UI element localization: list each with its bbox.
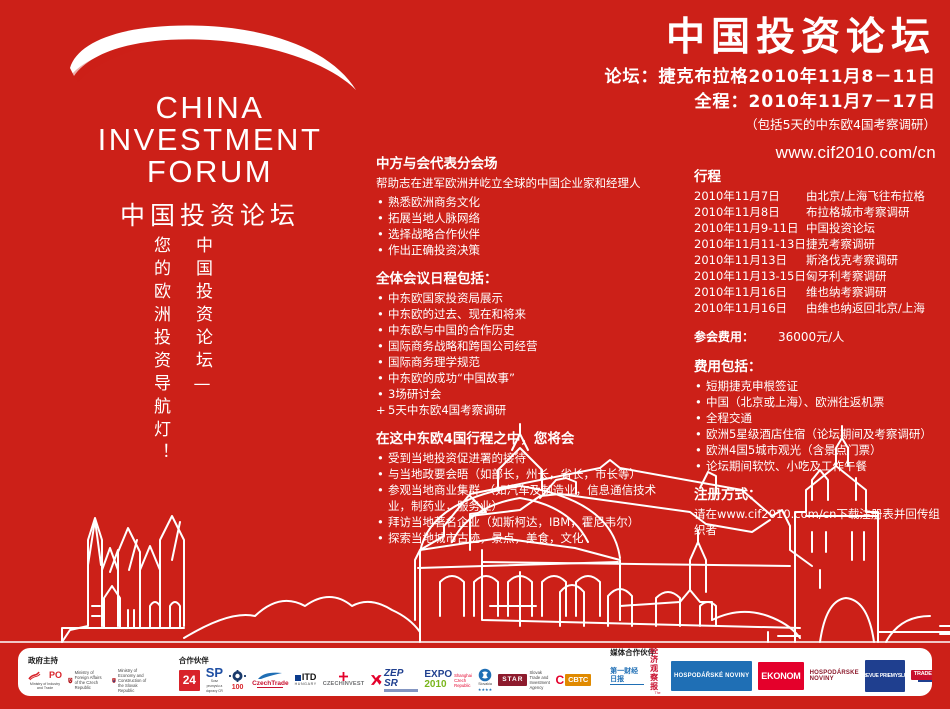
revue-priemyslu-logo[interactable]: REVUE PRIEMYSLU [865,660,905,692]
sp-logo[interactable]: SP Svaz prumyslu a dopravy CR [206,668,223,692]
cbtc-c-icon: C [555,674,564,686]
list-item: 参观当地商业集群 （如汽车及制造业，信息通信技术业，制药业，服务业） [376,482,676,514]
itinerary-activity: 斯洛伐克考察调研 [806,252,946,268]
itd-sublabel: HUNGARY [295,682,317,687]
table-row: 2010年11月13日 斯洛伐克考察调研 [694,252,946,268]
economic-observer-logo[interactable]: 经济观察报 The Economic Observer [650,664,665,688]
logo-chinese-name: 中国投资论坛 [60,196,360,232]
itinerary-heading: 行程 [694,168,946,187]
spacer [694,474,946,486]
24-logo[interactable]: 24 [179,670,200,691]
czechtrade-wordmark: CzechTrade [252,680,289,687]
czechinvest-wordmark: CZECHINVEST [323,681,365,688]
trade-news-logo[interactable]: TRADE NEWS [911,664,932,688]
vertical-slogan-right: 中国投资论坛— [192,236,212,486]
program-note: （包括5天的中东欧4国考察调研） [506,115,936,135]
section3-heading: 在这中东欧4国行程之中，您将会 [376,430,676,449]
forum-dates: 论坛：捷克布拉格2010年11月8－11日 [506,65,936,90]
section1-heading: 中方与会代表分会场 [376,155,676,174]
vertical-slogan-left: 您的欧洲投资导航灯！ [150,236,170,486]
itinerary-date: 2010年11月8日 [694,204,806,220]
table-row: 2010年11月9-11日 中国投资论坛 [694,220,946,236]
list-item: 中国（北京或上海）、欧洲往返机票 [694,394,946,410]
expo-year: 2010 [424,680,452,690]
media-sponsor-group: 媒体合作伙伴 第一财经日报 经济观察报 The Economic Observe… [610,653,932,692]
spacer [376,418,676,430]
list-item: 中东欧与中国的合作历史 [376,322,676,338]
itd-wordmark: ITD [302,673,317,682]
logo-english-name: CHINA INVESTMENT FORUM [60,92,360,188]
middle-content-column: 中方与会代表分会场 帮助志在进军欧洲并屹立全球的中国企业家和经理人 熟悉欧洲商务… [376,155,676,546]
itinerary-activity: 匈牙利考察调研 [806,268,946,284]
itinerary-activity: 布拉格城市考察调研 [806,204,946,220]
list-item: 熟悉欧洲商务文化 [376,194,676,210]
list-item: 欧洲4国5城市观光（含景点门票） [694,442,946,458]
list-item: 拓展当地人脉网络 [376,210,676,226]
cbtc-wordmark: CBTC [565,674,591,686]
mpo-ministry-of-industry-and-trade-logo[interactable]: PO Ministry of Industry and Trade [28,668,62,692]
cbn-wordmark: 第一财经日报 [610,668,644,684]
cif-logo: CHINA INVESTMENT FORUM 中国投资论坛 [60,24,360,234]
table-row: 2010年11月11-13日 捷克考察调研 [694,236,946,252]
list-item: 短期捷克申根签证 [694,378,946,394]
zep-sr-logo[interactable]: ZEP SR [370,668,418,692]
zep-sr-wordmark: ZEP SR [384,669,418,689]
logo-line-3: FORUM [60,156,360,188]
partner-logo-list: 24 SP Svaz prumyslu a dopravy CR 100 [179,668,591,692]
vertical-slogan: 中国投资论坛— 您的欧洲投资导航灯！ [150,236,212,486]
top100-number: 100 [232,684,244,691]
slovak-coat-of-arms-icon [112,672,116,689]
expo-sublabel: Shanghai Czech Republic [454,673,472,688]
itinerary-date: 2010年11月11-13日 [694,236,806,252]
list-item: 与当地政要会晤（如部长，州长，省长，市长等） [376,466,676,482]
list-item: 国际商务战略和跨国公司经营 [376,338,676,354]
government-logo-list: PO Ministry of Industry and Trade Minist… [28,668,152,692]
list-item: 全程交通 [694,410,946,426]
ministry-of-economy-slovak-logo[interactable]: Ministry of Economy and Construction of … [112,668,152,692]
itinerary-table: 2010年11月7日 由北京/上海飞往布拉格 2010年11月8日 布拉格城市考… [694,188,946,316]
mfa-sublabel: Ministry of Foreign Affairs of the Czech… [75,670,107,690]
list-item: 国际商务理学规范 [376,354,676,370]
spacer [694,316,946,328]
cbtc-logo[interactable]: C CBTC [555,668,591,692]
ekonom-logo[interactable]: EKONOM [758,662,803,690]
itinerary-date: 2010年11月16日 [694,300,806,316]
slovakia-stars: ★★★★ [478,687,492,692]
zep-sr-underline [384,689,418,692]
header-block: 中国投资论坛 论坛：捷克布拉格2010年11月8－11日 全程：2010年11月… [506,14,936,167]
zep-mark-icon [370,674,382,686]
includes-list: 短期捷克申根签证 中国（北京或上海）、欧洲往返机票 全程交通 欧洲5星级酒店住宿… [694,378,946,474]
itd-square-icon [295,675,301,681]
table-row: 2010年11月8日 布拉格城市考察调研 [694,204,946,220]
star-logo[interactable]: STAR Slovak Trade and Investment Agency [498,668,549,692]
list-item: 受到当地投资促进署的接待 [376,450,676,466]
trade-news-wordmark: TRADE NEWS [911,670,932,680]
sp-logo-mark: SP [206,666,223,679]
list-item: 拜访当地著名企业（如斯柯达，IBM，霍尼韦尔） [376,514,676,530]
full-program-dates: 全程：2010年11月7－17日 [506,90,936,115]
slovakia-logo[interactable]: Slovakia ★★★★ [478,668,492,692]
czechinvest-cross-icon [339,672,348,681]
section2-heading: 全体会议日程包括： [376,270,676,289]
hospodarske-noviny-sk-logo[interactable]: HOSPODÁRSKE NOVINY [810,664,859,688]
fee-value: 36000元/人 [778,328,844,346]
cbn-underline [610,684,644,685]
list-item: 作出正确投资决策 [376,242,676,258]
table-row: 2010年11月16日 维也纳考察调研 [694,284,946,300]
partner-sponsor-label: 合作伙伴 [179,655,591,666]
itinerary-date: 2010年11月9-11日 [694,220,806,236]
itinerary-date: 2010年11月13-15日 [694,268,806,284]
mpo-sublabel: Ministry of Industry and Trade [28,682,62,690]
list-item: 选择战略合作伙伴 [376,226,676,242]
top100-logo[interactable]: 100 [229,668,246,692]
section2-bullet-list: 中东欧国家投资局展示 中东欧的过去、现在和将来 中东欧与中国的合作历史 国际商务… [376,290,676,418]
includes-heading: 费用包括： [694,358,946,377]
itinerary-activity: 中国投资论坛 [806,220,946,236]
itinerary-date: 2010年11月7日 [694,188,806,204]
poster-canvas: CHINA INVESTMENT FORUM 中国投资论坛 中国投资论坛— 您的… [0,0,950,709]
spacer [376,258,676,270]
itinerary-activity: 由北京/上海飞往布拉格 [806,188,946,204]
section3-bullet-list: 受到当地投资促进署的接待 与当地政要会晤（如部长，州长，省长，市长等） 参观当地… [376,450,676,546]
list-item: 探索当地城市古迹，景点，美食，文化 [376,530,676,546]
eo-sublabel: The Economic Observer [650,691,665,696]
table-row: 2010年11月16日 由维也纳返回北京/上海 [694,300,946,316]
itinerary-activity: 由维也纳返回北京/上海 [806,300,946,316]
list-item: 中东欧国家投资局展示 [376,290,676,306]
itinerary-date: 2010年11月13日 [694,252,806,268]
partner-sponsor-group: 合作伙伴 24 SP Svaz prumyslu a dopravy CR [179,653,591,692]
czechtrade-logo[interactable]: CzechTrade [252,668,289,692]
list-item: 3场研讨会 [376,386,676,402]
government-sponsor-group: 政府主持 PO Ministry of Industry and Trade [28,653,152,692]
china-business-news-logo[interactable]: 第一财经日报 [610,664,644,688]
list-item: 欧洲5星级酒店住宿（论坛期间及考察调研） [694,426,946,442]
fee-label: 参会费用： [694,328,778,346]
trade-news-underline [918,680,932,682]
list-item: 中东欧的成功“中国故事” [376,370,676,386]
gear-icon [229,670,246,684]
sponsor-row: 政府主持 PO Ministry of Industry and Trade [28,653,922,692]
list-item-plus: 5天中东欧4国考察调研 [376,402,676,418]
expo-2010-logo[interactable]: EXPO 2010 Shanghai Czech Republic [424,668,472,692]
list-item: 论坛期间软饮、小吃及工作午餐 [694,458,946,474]
table-row: 2010年11月7日 由北京/上海飞往布拉格 [694,188,946,204]
czechtrade-underline [257,687,283,688]
slovak-ministry-sublabel: Ministry of Economy and Construction of … [118,668,152,693]
page-title: 中国投资论坛 [506,14,936,62]
itinerary-activity: 维也纳考察调研 [806,284,946,300]
eo-wordmark: 经济观察报 [650,648,665,691]
czechtrade-swoosh-icon [257,672,283,680]
itinerary-date: 2010年11月16日 [694,284,806,300]
slovakia-circle-icon [478,668,492,682]
hospodarske-noviny-cz-logo[interactable]: HOSPODÁŘSKÉ NOVINY [671,661,752,691]
mpo-mark-icon [28,670,48,681]
spacer [694,346,946,358]
register-text: 请在www.cif2010.com/cn下载注册表并回传组织者 [694,506,946,538]
logo-line-1: CHINA [60,92,360,124]
czechinvest-logo[interactable]: CZECHINVEST [323,668,365,692]
czech-coat-of-arms-icon [68,672,73,689]
star-sublabel: Slovak Trade and Investment Agency [529,670,549,690]
brush-stroke-icon [68,24,358,94]
government-sponsor-label: 政府主持 [28,655,152,666]
sponsor-bar: 政府主持 PO Ministry of Industry and Trade [18,648,932,696]
logo-line-2: INVESTMENT [60,124,360,156]
star-wordmark: STAR [498,674,527,687]
right-content-column: 行程 2010年11月7日 由北京/上海飞往布拉格 2010年11月8日 布拉格… [694,168,946,541]
ministry-of-foreign-affairs-logo[interactable]: Ministry of Foreign Affairs of the Czech… [68,668,106,692]
itinerary-activity: 捷克考察调研 [806,236,946,252]
section1-subtitle: 帮助志在进军欧洲并屹立全球的中国企业家和经理人 [376,175,676,191]
fee-row: 参会费用： 36000元/人 [694,328,946,346]
itd-hungary-logo[interactable]: ITD HUNGARY [295,668,317,692]
table-row: 2010年11月13-15日 匈牙利考察调研 [694,268,946,284]
sp-logo-sublabel: Svaz prumyslu a dopravy CR [206,679,223,694]
list-item: 中东欧的过去、现在和将来 [376,306,676,322]
media-logo-list: 第一财经日报 经济观察报 The Economic Observer HOSPO… [610,660,932,692]
section1-bullet-list: 熟悉欧洲商务文化 拓展当地人脉网络 选择战略合作伙伴 作出正确投资决策 [376,194,676,258]
register-heading: 注册方式： [694,486,946,505]
